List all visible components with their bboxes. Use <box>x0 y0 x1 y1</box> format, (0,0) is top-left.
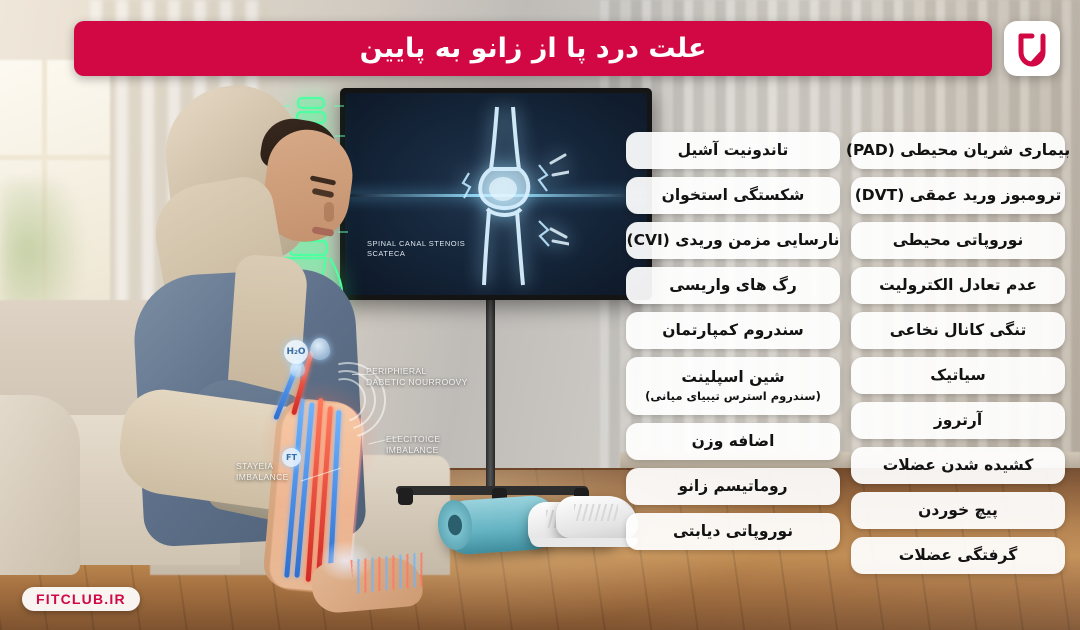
tag-label: گرفتگی عضلات <box>899 546 1017 565</box>
tag-item[interactable]: نوروپاتی محیطی <box>851 222 1065 259</box>
knee-xray-icon <box>439 103 569 288</box>
tag-item[interactable]: تنگی کانال نخاعی <box>851 312 1065 349</box>
tag-label: آرتروز <box>934 411 982 430</box>
tag-label: سیاتیک <box>930 366 985 385</box>
tag-label: رگ های واریسی <box>669 276 797 295</box>
molecule-badge-icon: H₂O <box>284 340 308 364</box>
callout-stability-imbalance: STAYEIA IMBALANCE <box>236 461 289 483</box>
tag-item[interactable]: اضافه وزن <box>626 423 840 460</box>
tag-item[interactable]: پیچ خوردن <box>851 492 1065 529</box>
tag-label: بیماری شریان محیطی (PAD) <box>846 141 1070 160</box>
sofa-armrest <box>0 395 80 575</box>
nose <box>324 202 334 222</box>
tag-label: تنگی کانال نخاعی <box>890 321 1027 340</box>
tag-label: سندروم کمپارتمان <box>662 321 804 340</box>
tag-label: نارسایی مزمن وریدی (CVI) <box>627 231 840 250</box>
tag-label: عدم تعادل الکترولیت <box>879 276 1037 295</box>
tag-item[interactable]: گرفتگی عضلات <box>851 537 1065 574</box>
callout-electrolyte-imbalance: ELECITOICE IMBALANCE <box>386 434 440 456</box>
tag-item[interactable]: روماتیسم زانو <box>626 468 840 505</box>
water-drop-icon <box>310 338 330 360</box>
tag-item[interactable]: شکستگی استخوان <box>626 177 840 214</box>
tag-label: ترومبوز ورید عمقی (DVT) <box>855 186 1062 205</box>
tag-sublabel: (سندروم استرس تیبیای میانی) <box>645 389 821 404</box>
header-banner: علت درد پا از زانو به پایین <box>74 21 992 76</box>
tag-item[interactable]: آرتروز <box>851 402 1065 439</box>
page-title: علت درد پا از زانو به پایین <box>360 33 707 64</box>
tag-item[interactable]: کشیده شدن عضلات <box>851 447 1065 484</box>
fit-badge-icon: FT <box>282 448 301 467</box>
tag-item[interactable]: سیاتیک <box>851 357 1065 394</box>
tv-stand-pole <box>486 298 495 490</box>
tag-label: روماتیسم زانو <box>678 477 787 496</box>
tag-item[interactable]: تاندونیت آشیل <box>626 132 840 169</box>
tag-label: تاندونیت آشیل <box>678 141 789 160</box>
tag-label: پیچ خوردن <box>918 501 998 520</box>
callout-peripheral-diabetic-neuropathy: PERIPHIERAL DABETIC NOURROOVY <box>366 366 468 388</box>
tag-item[interactable]: عدم تعادل الکترولیت <box>851 267 1065 304</box>
site-watermark: FITCLUB.IR <box>22 587 140 611</box>
tag-item[interactable]: رگ های واریسی <box>626 267 840 304</box>
fitclub-shield-logo-icon <box>1015 31 1049 67</box>
tag-item[interactable]: نوروپاتی دیابتی <box>626 513 840 550</box>
tag-item[interactable]: بیماری شریان محیطی (PAD) <box>851 132 1065 169</box>
tag-label: نوروپاتی دیابتی <box>673 522 793 541</box>
tag-label: اضافه وزن <box>692 432 775 451</box>
tag-item[interactable]: شین اسپلینت(سندروم استرس تیبیای میانی) <box>626 357 840 415</box>
tag-item[interactable]: سندروم کمپارتمان <box>626 312 840 349</box>
window-mullion-horizontal <box>0 155 110 160</box>
tag-label: کشیده شدن عضلات <box>883 456 1034 475</box>
brand-logo[interactable] <box>1004 21 1060 76</box>
right-tag-column: بیماری شریان محیطی (PAD)ترومبوز ورید عمق… <box>851 132 1065 574</box>
tag-label: شین اسپلینت <box>681 368 784 387</box>
tag-item[interactable]: نارسایی مزمن وریدی (CVI) <box>626 222 840 259</box>
left-tag-column: تاندونیت آشیلشکستگی استخواننارسایی مزمن … <box>626 132 840 550</box>
tag-item[interactable]: ترومبوز ورید عمقی (DVT) <box>851 177 1065 214</box>
tag-label: نوروپاتی محیطی <box>893 231 1024 250</box>
tag-label: شکستگی استخوان <box>662 186 805 205</box>
